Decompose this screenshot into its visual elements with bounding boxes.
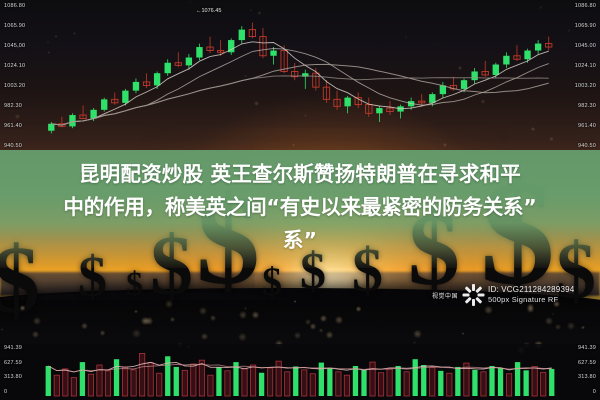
volume-bar <box>541 372 546 396</box>
price-tick-label-right: 961.40 <box>578 123 596 129</box>
price-tick-label-right: 1086.80 <box>575 3 596 9</box>
watermark-brand-cn: 视觉中国 <box>432 291 458 300</box>
price-tick-label-left: 1045.00 <box>4 43 25 49</box>
volume-bar-chart: 941.39627.59313.800 941.39627.59313.800 <box>0 344 600 400</box>
price-tick-label-left: 1086.80 <box>4 3 25 9</box>
volume-bar <box>293 366 298 396</box>
candle-body <box>429 94 435 103</box>
headline-line-3: 系” <box>0 224 600 257</box>
price-tick-label-left: 1024.10 <box>4 63 25 69</box>
price-candlestick-chart: 1086.801065.901045.001024.101003.20982.3… <box>0 0 600 152</box>
volume-chart-svg <box>0 344 600 400</box>
starburst-ray <box>464 297 471 304</box>
candle-body <box>524 51 530 60</box>
volume-bar <box>182 370 187 396</box>
volume-bar <box>481 372 486 396</box>
volume-bar <box>438 371 443 396</box>
volume-bar <box>430 367 435 396</box>
candle-body <box>239 30 245 40</box>
volume-bar <box>208 375 213 396</box>
starburst-ray <box>475 286 482 293</box>
price-tick-label-right: 940.50 <box>578 143 596 149</box>
volume-bar <box>489 366 494 396</box>
candle-body <box>535 44 541 51</box>
price-tick-label-left: 982.30 <box>4 103 22 109</box>
candle-body <box>122 91 128 103</box>
volume-tick-label-right: 627.59 <box>578 360 596 366</box>
candle-body <box>154 73 160 85</box>
volume-bar <box>46 366 51 396</box>
volume-bar <box>285 372 290 396</box>
candle-body <box>270 51 276 56</box>
price-tick-label-left: 1003.20 <box>4 83 25 89</box>
dollar-sign-silhouette: $ <box>126 268 143 302</box>
starburst-icon <box>462 284 484 306</box>
volume-bar <box>216 367 221 396</box>
volume-tick-label-left: 0 <box>4 389 7 395</box>
volume-bar <box>506 374 511 396</box>
screenshot-canvas: $$$$$$$$$$$ 1086.801065.901045.001024.10… <box>0 0 600 400</box>
volume-bar <box>139 353 144 396</box>
moving-average-line <box>51 42 548 125</box>
candle-body <box>376 108 382 113</box>
candle-body <box>186 58 192 66</box>
volume-bar <box>148 363 153 396</box>
volume-bar <box>515 362 520 396</box>
volume-bar <box>455 367 460 396</box>
volume-bar <box>378 373 383 396</box>
volume-bar <box>421 365 426 396</box>
watermark-license: 500px Signature RF <box>488 295 574 305</box>
volume-bar <box>404 372 409 396</box>
price-tick-label-left: 961.40 <box>4 123 22 129</box>
price-tick-label-right: 982.30 <box>578 103 596 109</box>
volume-bar <box>242 369 247 396</box>
headline-line-2: 中的作用，称美英之间“有史以来最紧密的防务关系” <box>0 191 600 224</box>
price-tick-label-right: 1003.20 <box>575 83 596 89</box>
volume-bar <box>131 370 136 396</box>
price-tick-label-right: 1045.00 <box>575 43 596 49</box>
starburst-ray <box>475 297 482 304</box>
volume-bar <box>157 373 162 396</box>
volume-tick-label-left: 313.80 <box>4 374 22 380</box>
volume-bar <box>523 370 528 396</box>
price-tick-label-left: 940.50 <box>4 143 22 149</box>
volume-bar <box>105 371 110 396</box>
price-annotation: ←1076.45 <box>196 8 221 14</box>
candle-body <box>461 80 467 89</box>
volume-tick-label-right: 941.39 <box>578 345 596 351</box>
candle-body <box>48 124 54 131</box>
price-chart-svg <box>0 0 600 152</box>
moving-average-line <box>51 49 548 126</box>
volume-bar <box>276 361 281 396</box>
headline-text: 昆明配资炒股 英王查尔斯赞扬特朗普在寻求和平 中的作用，称美英之间“有史以来最紧… <box>0 158 600 257</box>
starburst-ray <box>477 294 484 297</box>
volume-bar <box>302 370 307 396</box>
volume-tick-label-left: 941.39 <box>4 345 22 351</box>
watermark-text: ID: VCG211284289394 500px Signature RF <box>488 285 574 305</box>
starburst-ray <box>462 294 469 297</box>
candle-body <box>101 99 107 109</box>
volume-bar <box>353 366 358 396</box>
dollar-sign-silhouette: $ <box>262 262 282 302</box>
volume-bar <box>174 367 179 396</box>
volume-bar <box>370 362 375 396</box>
volume-tick-label-right: 0 <box>593 389 596 395</box>
price-tick-label-right: 1024.10 <box>575 63 596 69</box>
volume-bar <box>122 367 127 396</box>
volume-bar <box>267 368 272 396</box>
volume-bar <box>344 375 349 396</box>
volume-bar <box>361 370 366 396</box>
volume-bar <box>63 369 68 396</box>
volume-bar <box>71 378 76 396</box>
headline-line-1: 昆明配资炒股 英王查尔斯赞扬特朗普在寻求和平 <box>0 158 600 191</box>
volume-bar <box>532 366 537 396</box>
candle-body <box>165 63 171 73</box>
volume-bar <box>250 365 255 396</box>
candle-body <box>344 98 350 107</box>
candle-body <box>503 56 509 65</box>
volume-bar <box>80 362 85 396</box>
volume-bar <box>472 370 477 396</box>
volume-bar <box>114 359 119 396</box>
volume-bar <box>387 369 392 396</box>
price-tick-label-left: 1065.90 <box>4 23 25 29</box>
volume-bar <box>259 373 264 396</box>
starburst-ray <box>472 284 475 291</box>
candle-body <box>493 64 499 74</box>
starburst-ray <box>464 286 471 293</box>
candle-body <box>196 47 202 57</box>
candle-body <box>133 82 139 91</box>
volume-bar <box>310 374 315 396</box>
volume-bar <box>191 364 196 396</box>
volume-bar <box>54 375 59 396</box>
volume-tick-label-left: 627.59 <box>4 360 22 366</box>
volume-bar <box>413 359 418 396</box>
watermark-id: ID: VCG211284289394 <box>488 285 574 295</box>
price-tick-label-right: 1065.90 <box>575 23 596 29</box>
watermark: 视觉中国 ID: VCG211284289394 500px Signature… <box>432 284 574 306</box>
volume-bar <box>225 371 230 396</box>
candle-body <box>471 71 477 80</box>
volume-bar <box>395 366 400 396</box>
volume-bar <box>549 369 554 396</box>
volume-bar <box>327 368 332 396</box>
volume-tick-label-right: 313.80 <box>578 374 596 380</box>
candle-body <box>69 115 75 126</box>
volume-bar <box>447 373 452 396</box>
volume-bar <box>88 374 93 396</box>
volume-bar <box>498 368 503 396</box>
volume-bar <box>336 372 341 396</box>
volume-bar <box>199 360 204 396</box>
starburst-ray <box>472 299 475 306</box>
volume-bar <box>165 356 170 396</box>
